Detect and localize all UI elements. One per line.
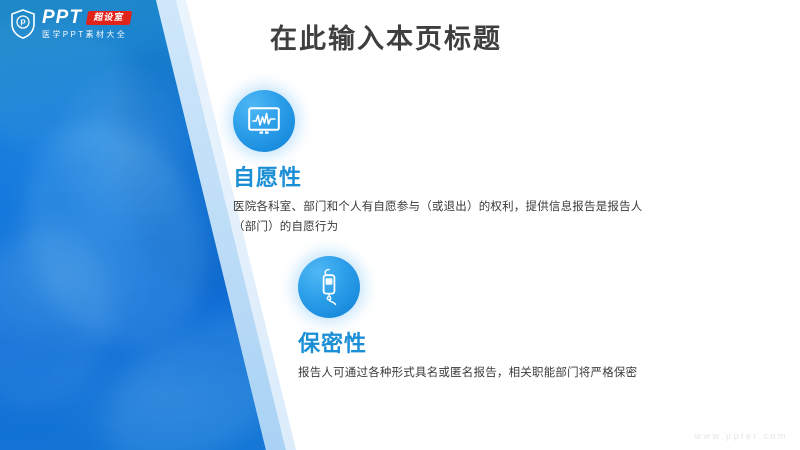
slide-canvas: P PPT 超设室 医学PPT素材大全 在此输入本页标题 自愿性 医院各科室、部… xyxy=(0,0,800,450)
content-block-voluntariness: 自愿性 医院各科室、部门和个人有自愿参与（或退出）的权利，提供信息报告是报告人（… xyxy=(233,90,645,237)
ecg-monitor-icon xyxy=(233,90,295,152)
logo-text-group: PPT 超设室 医学PPT素材大全 xyxy=(42,8,131,39)
block-heading: 保密性 xyxy=(298,332,710,356)
svg-text:P: P xyxy=(20,18,26,27)
content-block-confidentiality: 保密性 报告人可通过各种形式具名或匿名报告，相关职能部门将严格保密 xyxy=(298,256,710,383)
block-heading: 自愿性 xyxy=(233,166,645,190)
block-body-text: 医院各科室、部门和个人有自愿参与（或退出）的权利，提供信息报告是报告人（部门）的… xyxy=(233,197,645,237)
block-body-text: 报告人可通过各种形式具名或匿名报告，相关职能部门将严格保密 xyxy=(298,363,710,383)
brand-logo[interactable]: P PPT 超设室 医学PPT素材大全 xyxy=(10,8,131,39)
logo-badge: 超设室 xyxy=(86,11,132,25)
logo-subtitle: 医学PPT素材大全 xyxy=(42,31,131,39)
shield-icon: P xyxy=(10,9,36,39)
logo-brand-text: PPT xyxy=(42,8,82,27)
page-title: 在此输入本页标题 xyxy=(270,17,502,56)
iv-drip-icon xyxy=(298,256,360,318)
site-watermark: www.ppter.com xyxy=(694,431,788,441)
logo-top-row: PPT 超设室 xyxy=(42,8,131,27)
